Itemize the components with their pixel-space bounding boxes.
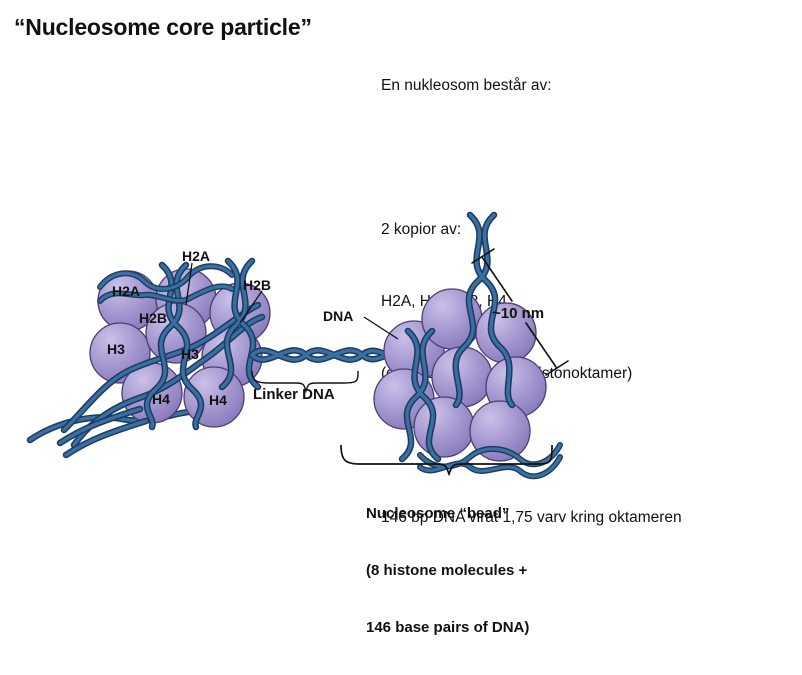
- label-dna: DNA: [323, 308, 353, 324]
- label-h2b-outer: H2B: [243, 277, 271, 293]
- label-h3-center: H3: [181, 346, 199, 362]
- linker-dna-helix: [252, 350, 398, 359]
- notes-line-1: En nukleosom består av:: [381, 74, 682, 98]
- figure-caption: Nucleosome “bead” (8 histone molecules +…: [366, 466, 529, 675]
- label-h3-left: H3: [107, 341, 125, 357]
- left-nucleosome-group: [30, 261, 270, 455]
- label-h4-center: H4: [209, 392, 227, 408]
- dna-leader-line: [364, 317, 398, 339]
- caption-line-1: Nucleosome “bead”: [366, 504, 529, 523]
- label-h2a-top: H2A: [182, 248, 210, 264]
- right-nucleosome-group: [374, 215, 560, 476]
- page-title: “Nucleosome core particle”: [14, 14, 312, 41]
- histone-sphere-r7: [414, 397, 474, 457]
- label-h4-left: H4: [152, 391, 170, 407]
- caption-line-3: 146 base pairs of DNA): [366, 618, 529, 637]
- label-h2a-inner: H2A: [112, 283, 140, 299]
- label-h2b-inner: H2B: [139, 310, 167, 326]
- caption-line-2: (8 histone molecules +: [366, 561, 529, 580]
- slide-canvas: “Nucleosome core particle” En nukleosom …: [0, 0, 802, 574]
- label-scale-10nm: ~10 nm: [492, 305, 544, 322]
- nucleosome-diagram: [0, 205, 660, 550]
- notes-spacer-1: [381, 146, 682, 170]
- label-linker-dna: Linker DNA: [253, 386, 335, 403]
